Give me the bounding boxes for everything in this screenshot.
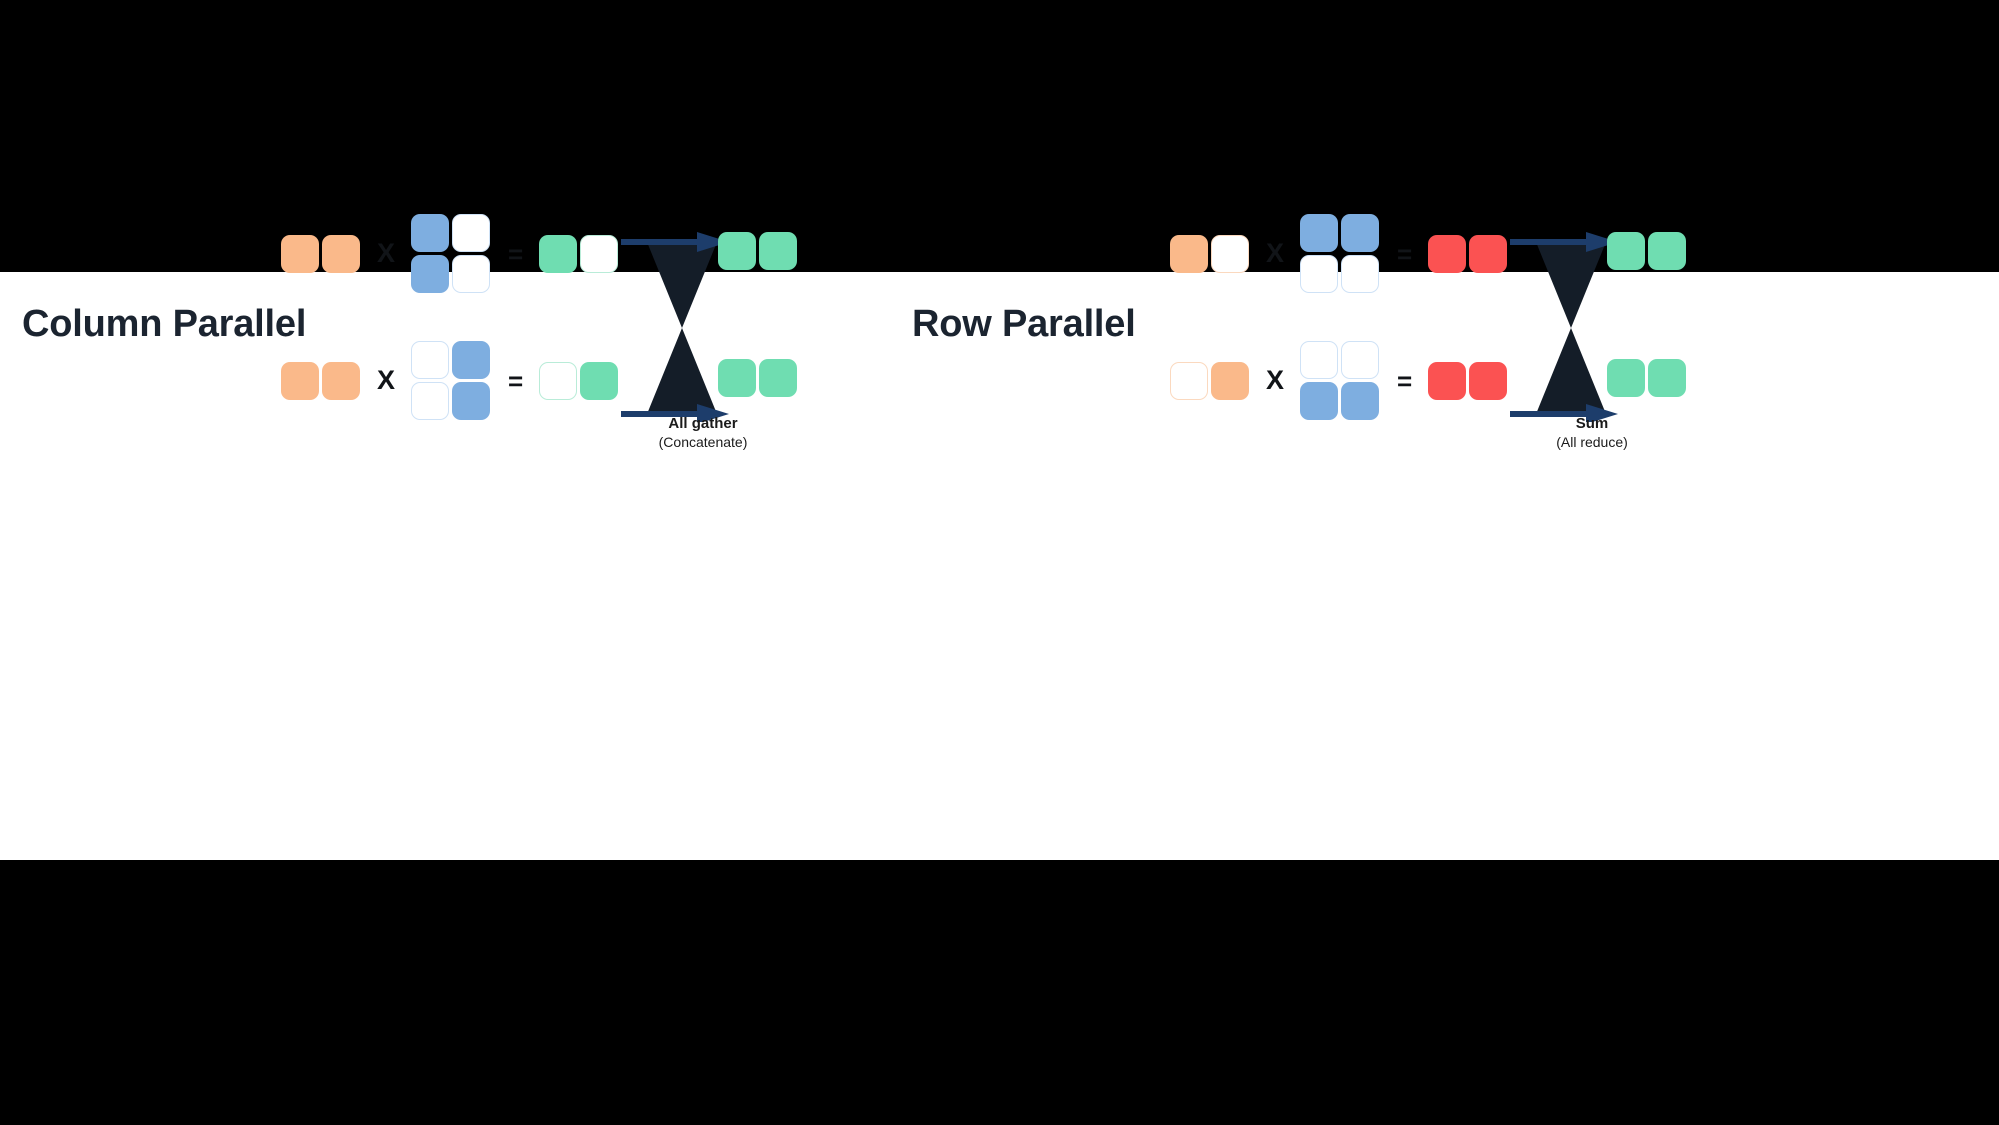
result-vector-row-2 bbox=[1428, 362, 1507, 400]
equation-row-row-2: X = bbox=[1170, 341, 1507, 420]
page-title-row-parallel: Row Parallel bbox=[912, 303, 1136, 346]
input-vector-column-1 bbox=[281, 235, 360, 273]
equals-symbol: = bbox=[1397, 241, 1412, 267]
matrix-cell bbox=[281, 235, 319, 273]
matrix-cell bbox=[411, 341, 449, 379]
weight-matrix-row-2 bbox=[1300, 341, 1379, 420]
equals-symbol: = bbox=[508, 241, 523, 267]
matrix-cell bbox=[452, 341, 490, 379]
matrix-cell bbox=[452, 382, 490, 420]
matrix-cell bbox=[1428, 362, 1466, 400]
matrix-cell bbox=[281, 362, 319, 400]
weight-matrix-column-1 bbox=[411, 214, 490, 293]
collective-op-label-sum: Sum (All reduce) bbox=[1502, 415, 1682, 451]
collective-op-name: Sum bbox=[1502, 415, 1682, 433]
equation-row-column-2: X = bbox=[281, 341, 618, 420]
matrix-cell bbox=[452, 255, 490, 293]
output-vector-row-2 bbox=[1607, 359, 1686, 397]
matrix-cell bbox=[1341, 255, 1379, 293]
matrix-cell bbox=[1170, 362, 1208, 400]
matrix-cell bbox=[322, 235, 360, 273]
matrix-cell bbox=[1170, 235, 1208, 273]
input-vector-column-2 bbox=[281, 362, 360, 400]
weight-matrix-row-1 bbox=[1300, 214, 1379, 293]
matrix-cell bbox=[1341, 341, 1379, 379]
matrix-cell bbox=[1428, 235, 1466, 273]
multiply-symbol: X bbox=[377, 240, 395, 267]
matrix-cell bbox=[411, 382, 449, 420]
matrix-cell bbox=[539, 235, 577, 273]
matrix-cell bbox=[1607, 359, 1645, 397]
equation-row-column-1: X = bbox=[281, 214, 618, 293]
matrix-cell bbox=[1648, 232, 1686, 270]
collective-op-detail: (All reduce) bbox=[1502, 433, 1682, 451]
letterbox-bottom bbox=[0, 860, 1999, 1125]
matrix-cell bbox=[759, 232, 797, 270]
matrix-cell bbox=[759, 359, 797, 397]
output-vector-column-2 bbox=[718, 359, 797, 397]
result-vector-column-1 bbox=[539, 235, 618, 273]
matrix-cell bbox=[1341, 214, 1379, 252]
input-vector-row-2 bbox=[1170, 362, 1249, 400]
result-vector-row-1 bbox=[1428, 235, 1507, 273]
collective-op-name: All gather bbox=[613, 415, 793, 433]
matrix-cell bbox=[452, 214, 490, 252]
matrix-cell bbox=[1300, 214, 1338, 252]
result-vector-column-2 bbox=[539, 362, 618, 400]
matrix-cell bbox=[1300, 341, 1338, 379]
output-vector-column-1 bbox=[718, 232, 797, 270]
matrix-cell bbox=[718, 359, 756, 397]
matrix-cell bbox=[1607, 232, 1645, 270]
matrix-cell bbox=[1211, 235, 1249, 273]
multiply-symbol: X bbox=[1266, 240, 1284, 267]
equation-row-row-1: X = bbox=[1170, 214, 1507, 293]
collective-op-detail: (Concatenate) bbox=[613, 433, 793, 451]
matrix-cell bbox=[322, 362, 360, 400]
matrix-cell bbox=[1300, 255, 1338, 293]
input-vector-row-1 bbox=[1170, 235, 1249, 273]
collective-op-label-all-gather: All gather (Concatenate) bbox=[613, 415, 793, 451]
matrix-cell bbox=[1648, 359, 1686, 397]
matrix-cell bbox=[411, 214, 449, 252]
weight-matrix-column-2 bbox=[411, 341, 490, 420]
output-vector-row-1 bbox=[1607, 232, 1686, 270]
matrix-cell bbox=[1300, 382, 1338, 420]
matrix-cell bbox=[718, 232, 756, 270]
matrix-cell bbox=[539, 362, 577, 400]
equals-symbol: = bbox=[1397, 368, 1412, 394]
matrix-cell bbox=[1341, 382, 1379, 420]
equals-symbol: = bbox=[508, 368, 523, 394]
matrix-cell bbox=[411, 255, 449, 293]
matrix-cell bbox=[1211, 362, 1249, 400]
multiply-symbol: X bbox=[377, 367, 395, 394]
multiply-symbol: X bbox=[1266, 367, 1284, 394]
page-title-column-parallel: Column Parallel bbox=[22, 303, 306, 346]
